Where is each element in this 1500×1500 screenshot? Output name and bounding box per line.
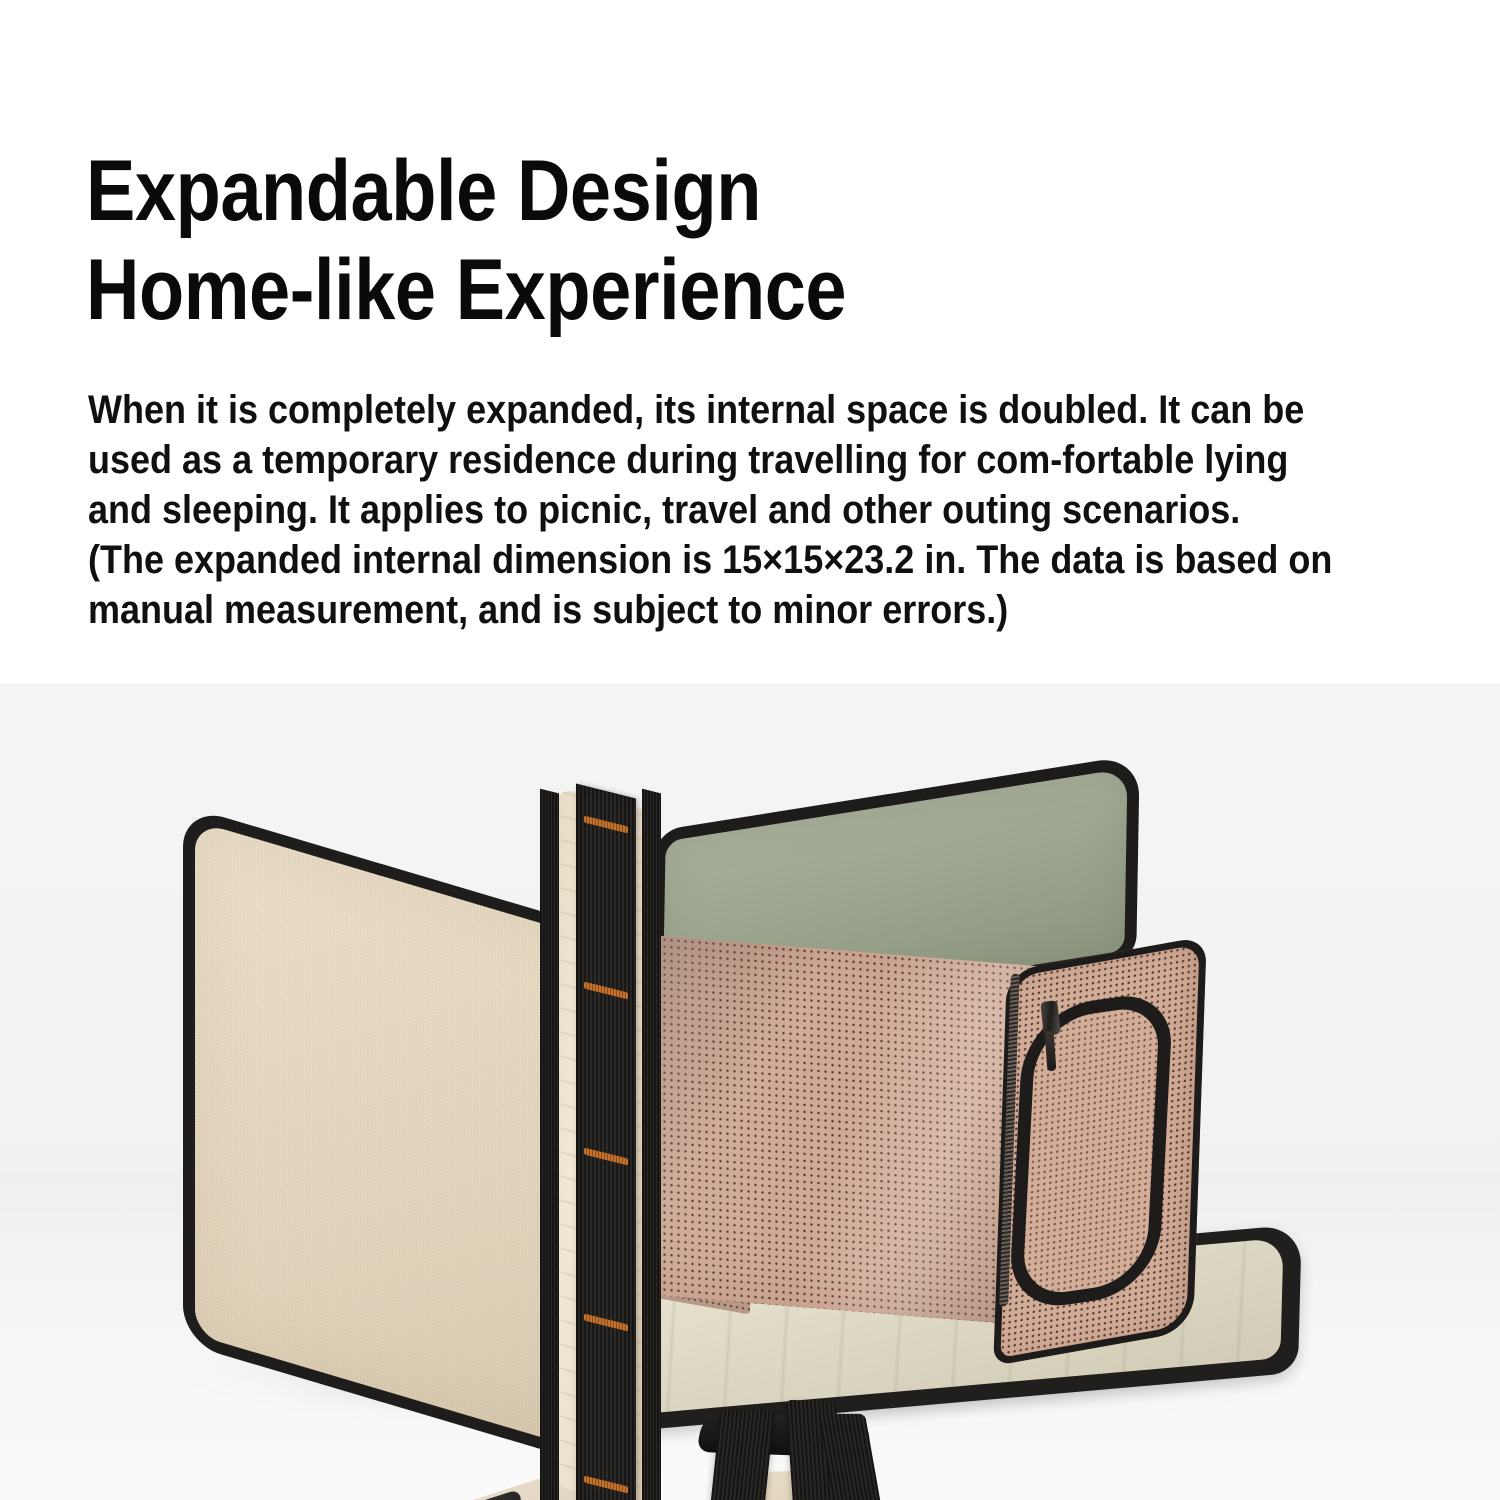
shoulder-strap-webbing [576, 784, 636, 1500]
mesh-shading [640, 934, 1058, 1328]
text-panel: Expandable Design Home-like Experience W… [0, 0, 1500, 683]
orange-bartack-stitch [584, 982, 628, 1000]
front-mesh-panel [640, 934, 1058, 1328]
page-title: Expandable Design Home-like Experience [86, 142, 1221, 342]
orange-bartack-stitch [584, 1314, 628, 1332]
description-paragraph: When it is completely expanded, its inte… [88, 385, 1348, 635]
orange-bartack-stitch [584, 1476, 628, 1494]
orange-bartack-stitch [584, 1148, 628, 1166]
edge-binding-right [642, 789, 661, 1500]
product-photo [0, 683, 1500, 1500]
edge-binding-left [540, 789, 559, 1500]
pet-carrier-product [0, 683, 1500, 1500]
orange-bartack-stitch [584, 816, 628, 834]
